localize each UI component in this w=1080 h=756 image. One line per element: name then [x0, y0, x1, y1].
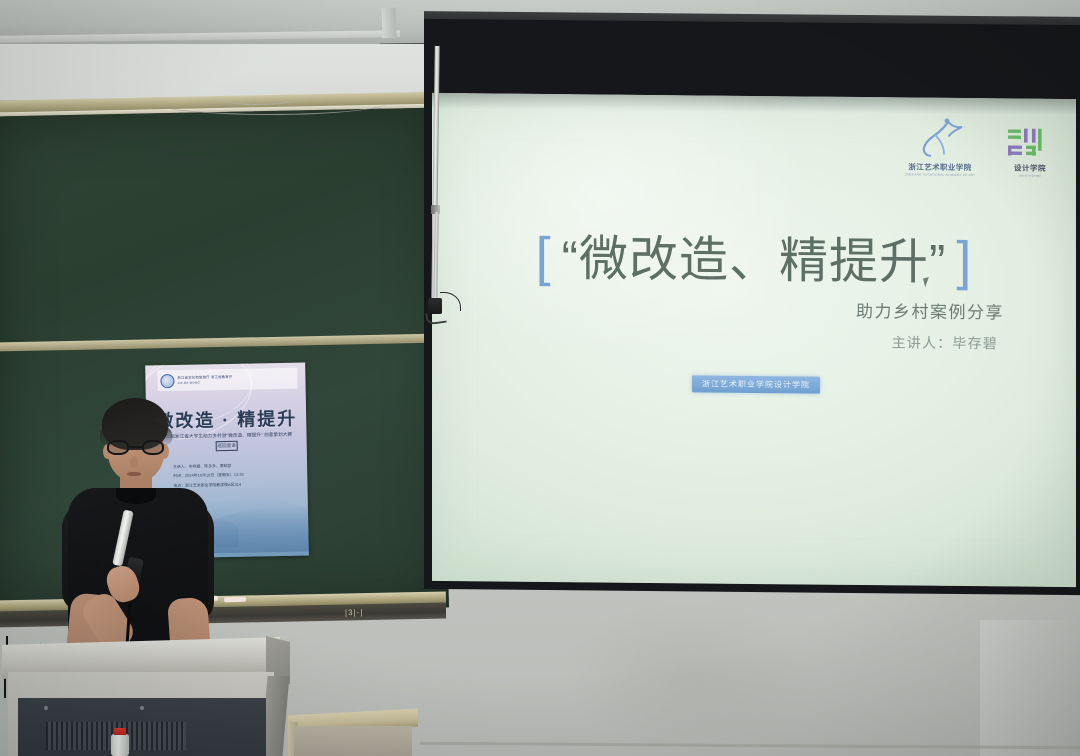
podium-screw-right [140, 706, 144, 710]
classroom-scene: Redmi ✱ |3|-| 浙江省文化和旅游厅 浙江省教育厅 主办·承办·协办单… [0, 0, 1080, 756]
poster-subtitle-line2: 创意策划大赛 [264, 432, 292, 438]
slide-title-text: “微改造、精提升” [562, 232, 947, 290]
presenter-glasses [106, 440, 166, 456]
glasses-bridge [129, 446, 142, 448]
glasses-lens-right [142, 440, 164, 455]
wall-shadow [560, 600, 820, 750]
presenter-collar [116, 488, 156, 504]
wall-highlight [980, 620, 1080, 756]
side-table-body [294, 726, 412, 756]
design-logo-name-en: School of Design [1008, 174, 1051, 178]
slide-logo-group: 浙江艺术职业学院 ZHEJIANG VOCATIONAL ACADEMY OF … [890, 115, 1054, 178]
dancer-icon [890, 115, 990, 162]
poster-seal-icon [160, 373, 174, 387]
slide-title-close-bracket: ] [946, 231, 982, 291]
ceiling-bracket [381, 8, 396, 38]
podium-screw-left [44, 706, 48, 710]
glasses-lens-left [107, 440, 129, 455]
slide-presenter: 主讲人：毕存碧 [892, 332, 998, 353]
dancer-svg [890, 115, 990, 162]
presenter-nose [130, 456, 138, 468]
slide-organization-badge: 浙江艺术职业学院设计学院 [692, 375, 820, 393]
design-mark-icon [1006, 126, 1054, 162]
slide-subtitle: 助力乡村案例分享 [856, 297, 1004, 323]
chalkboard-marks: |3|-| [345, 608, 364, 617]
poster-header: 浙江省文化和旅游厅 浙江省教育厅 主办·承办·协办单位 [157, 368, 297, 392]
academy-logo-name-en: ZHEJIANG VOCATIONAL ACADEMY OF ART [894, 173, 986, 178]
design-logo-name-cn: 设计学院 [1006, 162, 1054, 173]
slide-title: [“微改造、精提升”] [432, 218, 1076, 295]
bottle-cap [114, 728, 126, 735]
slide-title-open-bracket: [ [526, 227, 562, 287]
bottle-body [111, 734, 129, 756]
poster-header-line2: 主办·承办·协办单位 [177, 380, 232, 385]
poster-header-text: 浙江省文化和旅游厅 浙江省教育厅 主办·承办·协办单位 [177, 375, 232, 385]
academy-logo-name-cn: 浙江艺术职业学院 [890, 161, 990, 173]
design-school-logo: 设计学院 School of Design [1006, 126, 1054, 177]
presenter-mouth [127, 472, 141, 476]
design-mark-svg [1006, 126, 1054, 162]
academy-logo: 浙江艺术职业学院 ZHEJIANG VOCATIONAL ACADEMY OF … [890, 115, 990, 177]
water-bottle [110, 728, 130, 756]
projection-screen: 浙江艺术职业学院 ZHEJIANG VOCATIONAL ACADEMY OF … [432, 93, 1076, 587]
